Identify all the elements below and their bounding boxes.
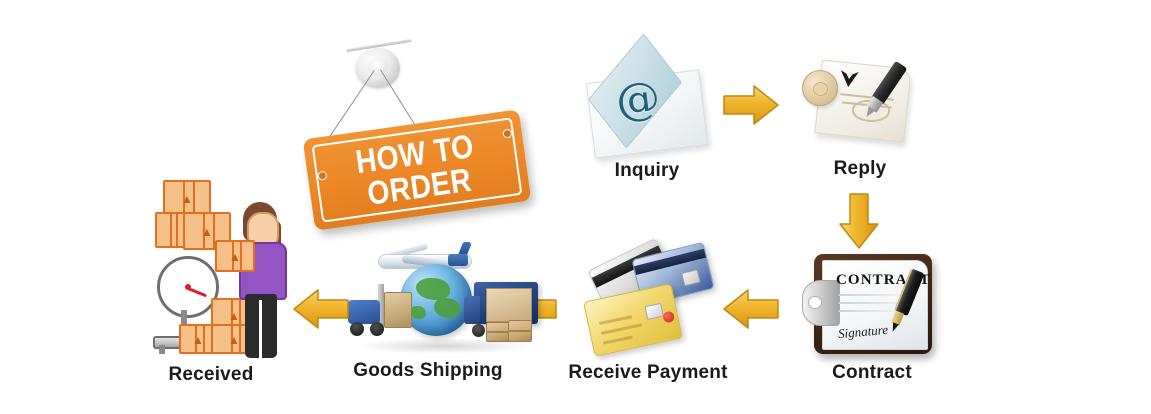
stacked-box: ▲ xyxy=(163,180,211,216)
step-label-received: Received xyxy=(148,364,274,386)
forklift-icon xyxy=(348,284,406,336)
step-label-reply: Reply xyxy=(800,158,920,180)
plane-tail-body xyxy=(448,254,468,266)
globe-landmass xyxy=(434,298,460,318)
forklift-cab xyxy=(348,300,380,324)
card-embossed-line xyxy=(599,315,633,325)
pen-nib xyxy=(890,322,899,333)
sign-board: HOW TO ORDER xyxy=(303,109,532,230)
pallet-load xyxy=(384,292,412,328)
clipboard-clip xyxy=(802,280,840,326)
delivery-truck-icon xyxy=(464,282,538,334)
cargo-box xyxy=(508,320,532,342)
card-chip xyxy=(644,303,664,320)
truck-cargo-opening xyxy=(486,288,532,322)
at-symbol-icon: @ xyxy=(613,72,663,128)
step-received-icon: ▲ ▲ ▲ ▲ ▲ xyxy=(155,178,305,363)
box-tape xyxy=(170,214,179,246)
card-chip xyxy=(681,269,701,287)
step-label-inquiry: Inquiry xyxy=(588,160,706,182)
how-to-order-sign: HOW TO ORDER xyxy=(300,38,540,238)
step-label-receive-payment: Receive Payment xyxy=(560,362,736,384)
scale-leg xyxy=(159,345,165,354)
forklift-wheel xyxy=(350,322,364,336)
scale-needle-hub xyxy=(185,284,191,290)
step-reply-icon xyxy=(800,52,920,152)
contract-text-line xyxy=(838,294,908,296)
box-arrow-mark: ▲ xyxy=(201,226,213,238)
arrow-reply-to-contract-icon xyxy=(838,192,880,250)
contract-text-line xyxy=(838,310,900,312)
card-logo-dot xyxy=(662,310,675,323)
how-to-order-diagram: HOW TO ORDER @ Inquiry xyxy=(0,0,1151,414)
card-embossed-line xyxy=(601,323,643,334)
truck-wheel xyxy=(472,324,485,337)
globe-landmass xyxy=(410,306,426,319)
sign-title: HOW TO ORDER xyxy=(320,124,515,215)
step-goods-shipping-icon xyxy=(348,242,538,357)
person-legs xyxy=(245,294,277,358)
step-receive-payment-icon xyxy=(586,248,706,348)
reply-scroll-roll xyxy=(802,70,838,106)
step-contract-icon: CONTRACT Signature xyxy=(806,250,938,358)
arrow-inquiry-to-reply-icon xyxy=(722,84,780,126)
box-arrow-mark: ▲ xyxy=(229,251,241,263)
globe-landmass xyxy=(416,278,450,300)
scale-dial xyxy=(157,256,219,318)
step-label-contract: Contract xyxy=(806,362,938,384)
checkmark-icon xyxy=(837,67,861,91)
shipping-shadow xyxy=(354,338,532,354)
card-embossed-line xyxy=(603,336,633,345)
step-inquiry-icon: @ xyxy=(588,58,706,154)
warehouse-worker-icon xyxy=(233,202,293,360)
step-label-goods-shipping: Goods Shipping xyxy=(344,360,512,382)
box-arrow-mark: ▲ xyxy=(192,334,204,346)
box-arrow-mark: ▲ xyxy=(181,193,193,205)
sign-hook-icon xyxy=(356,48,400,88)
held-box: ▲ xyxy=(215,240,255,272)
truck-cab xyxy=(464,296,480,324)
forklift-wheel xyxy=(370,322,384,336)
arrow-contract-to-payment-icon xyxy=(722,288,780,330)
